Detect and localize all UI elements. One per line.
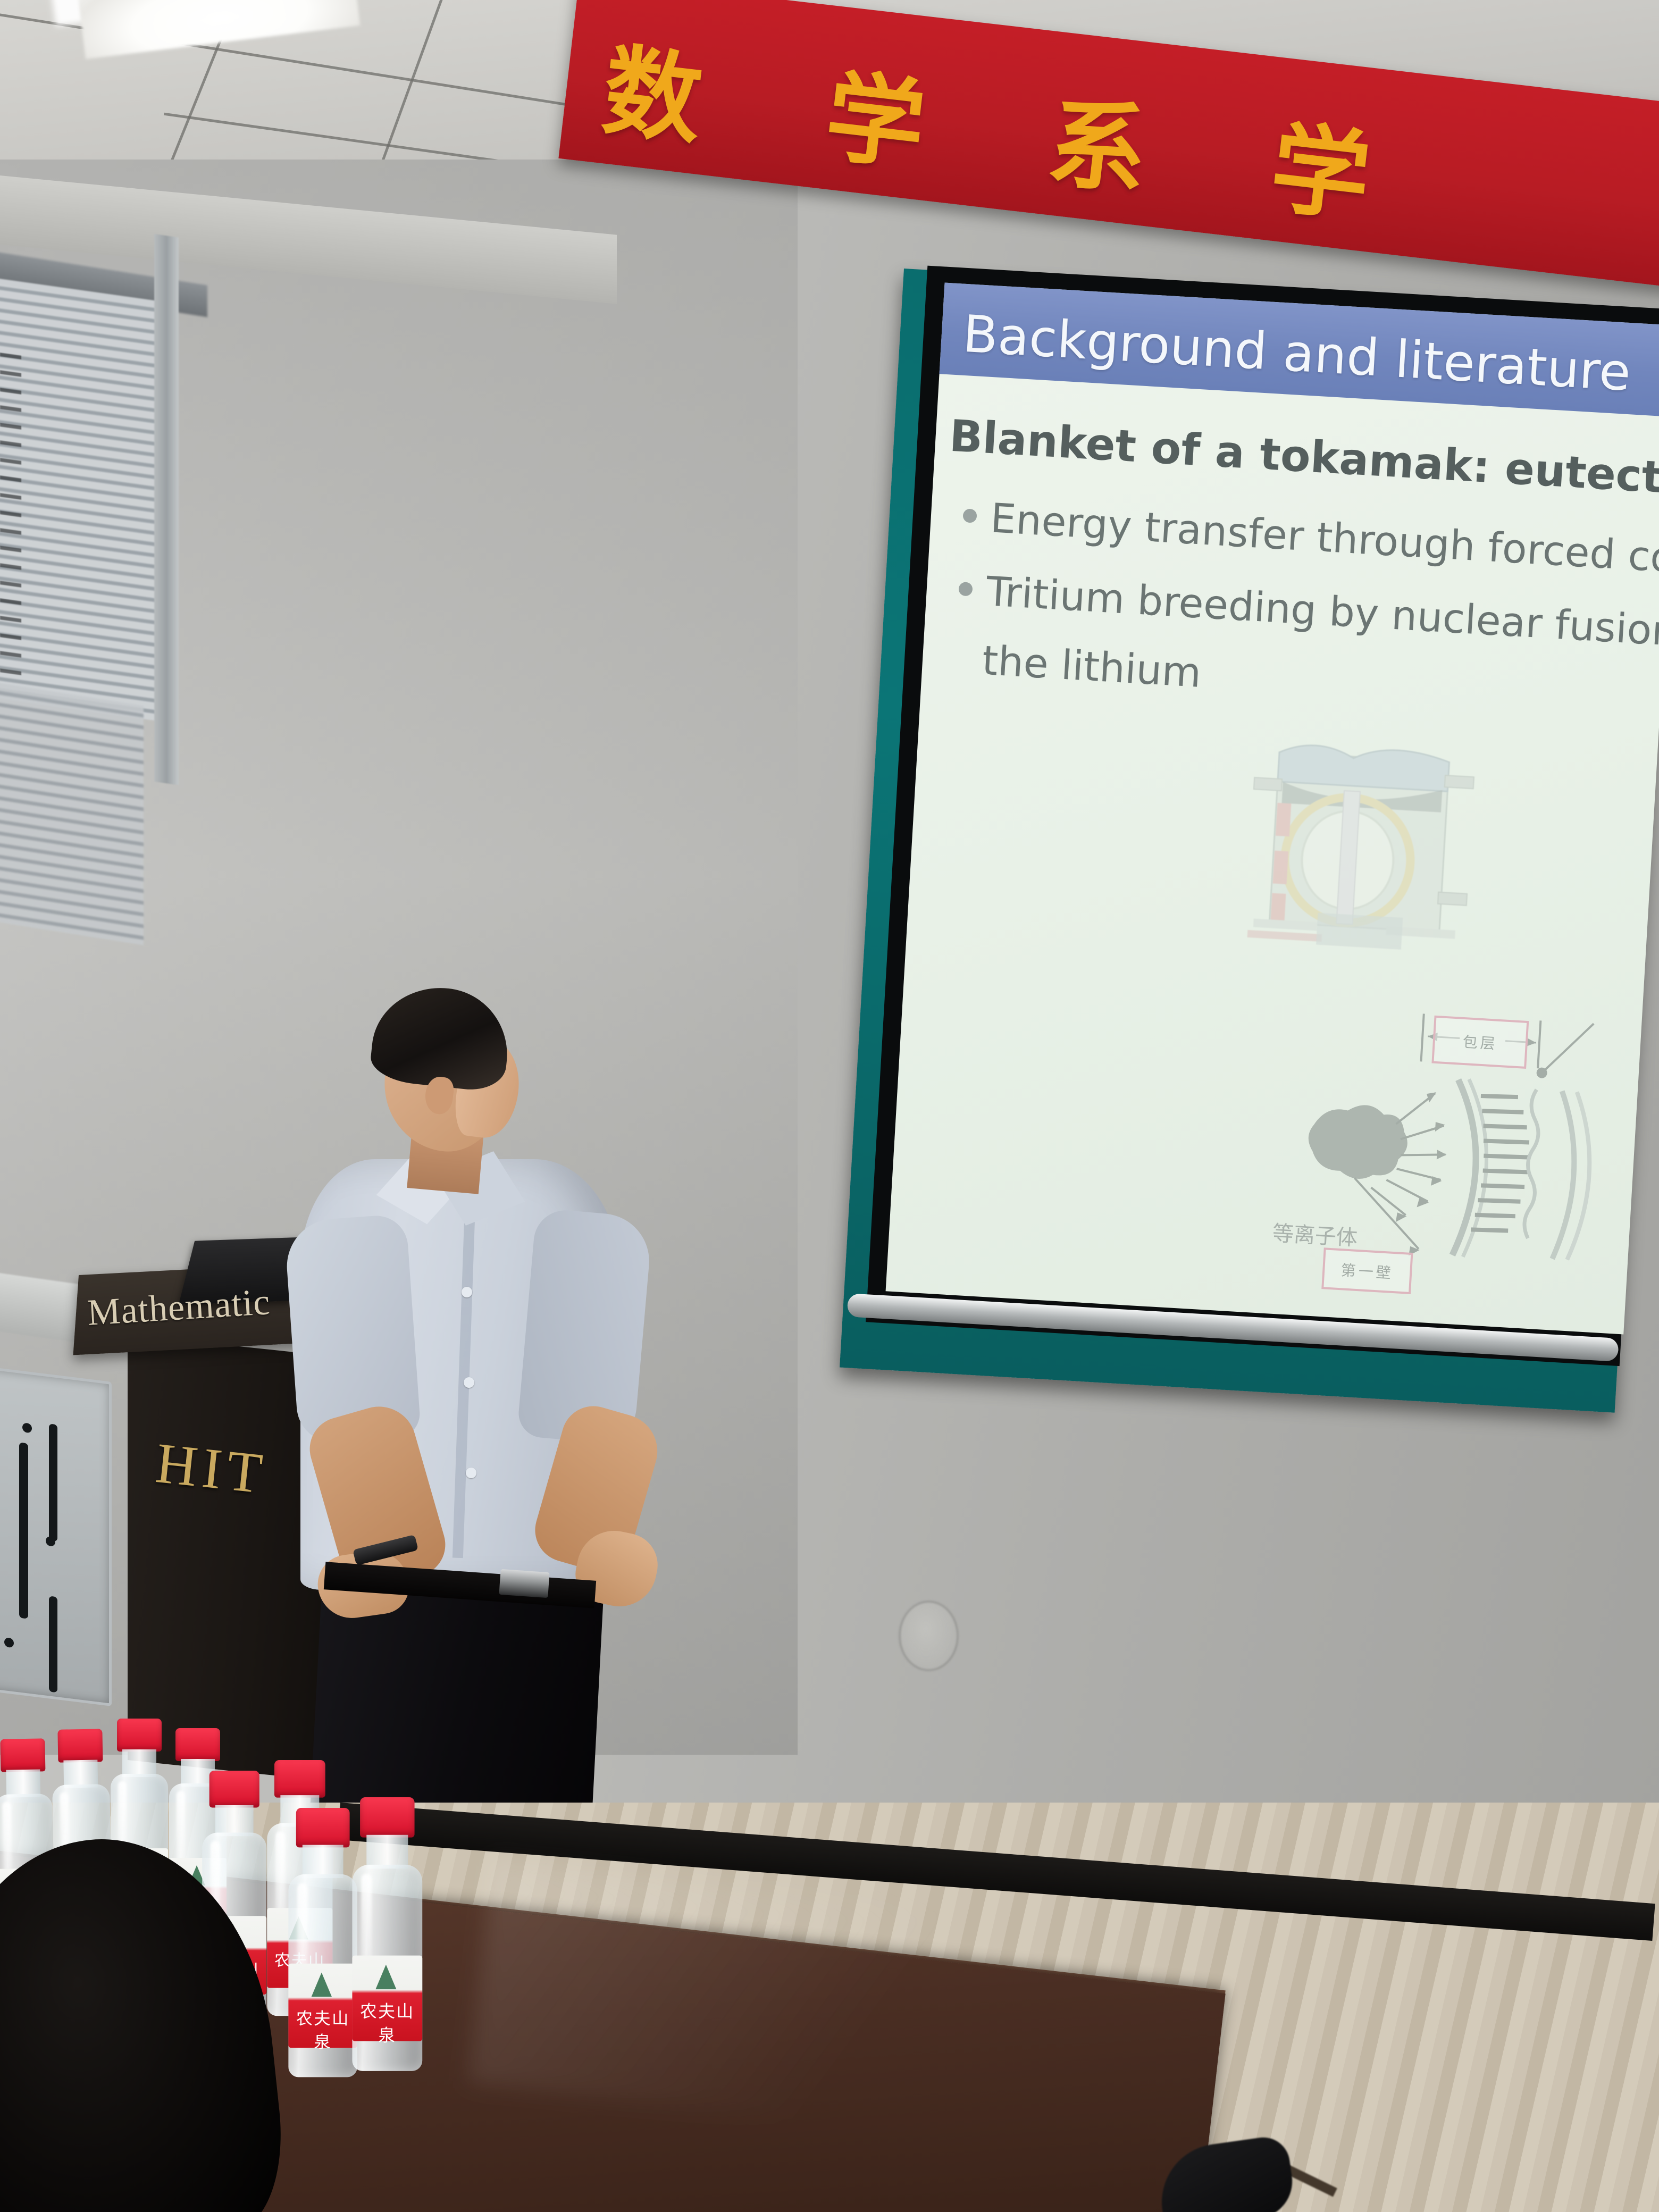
window-frame: [154, 234, 179, 785]
water-bottle[interactable]: 农夫山泉: [351, 1797, 424, 2069]
bottle-cap: [117, 1719, 162, 1752]
schematic-label-text: 包层: [1462, 1030, 1498, 1054]
wall-vent: [0, 1367, 112, 1706]
lecture-photo-scene: 数 学 系 学 Background and literature Blanke…: [0, 0, 1659, 2212]
vent-slot: [49, 1596, 57, 1692]
tokamak-cutaway-figure: [1236, 721, 1483, 958]
pine-tree-icon: [312, 1973, 332, 1997]
bottle-cap: [57, 1729, 103, 1762]
bullet-dot-icon: [962, 508, 977, 523]
pine-tree-icon: [375, 1965, 396, 1989]
slide-bullet: Energy transfer through forced conv: [961, 492, 1659, 584]
bottle-label: 农夫山泉: [352, 1956, 422, 2041]
bottle-neck: [122, 1749, 156, 1777]
presenter: [250, 989, 675, 1893]
bullet-dot-icon: [958, 582, 973, 596]
blanket-schematic-figure: 包层 等离子体 第一壁: [1259, 994, 1642, 1297]
bottle-neck: [63, 1759, 98, 1788]
window-blinds-lower[interactable]: [0, 681, 144, 945]
blind-cord-holes: [0, 339, 21, 682]
slide-bullet-continuation: the lithium: [981, 636, 1203, 697]
schematic-label-text: 第一壁: [1340, 1259, 1394, 1283]
schematic-label-box-blanket: 包层: [1431, 1016, 1529, 1069]
bottle-brand-text: 农夫山泉: [294, 2006, 352, 2053]
shirt-button: [466, 1468, 476, 1478]
vent-hole: [22, 1422, 32, 1433]
shirt-button: [464, 1377, 474, 1388]
slide-bullet-text: Energy transfer through forced conv: [989, 494, 1659, 584]
schematic-label-plasma: 等离子体: [1272, 1216, 1359, 1252]
bottle-neck: [6, 1769, 40, 1797]
bottle-neck: [303, 1845, 343, 1878]
vent-slot: [19, 1442, 28, 1619]
projection-screen: Background and literature Blanket of a t…: [840, 269, 1659, 1413]
wall-mark: [899, 1601, 959, 1671]
bottle-cap: [0, 1738, 45, 1772]
shirt-button: [462, 1287, 472, 1297]
bottle-cap: [210, 1771, 259, 1807]
bottle-cap: [175, 1728, 220, 1761]
bottle-neck: [366, 1835, 408, 1869]
bottle-neck: [215, 1805, 254, 1836]
presentation-slide: Background and literature Blanket of a t…: [886, 283, 1659, 1335]
schematic-label-box-first-wall: 第一壁: [1321, 1247, 1413, 1294]
belt-buckle: [499, 1569, 549, 1598]
bottle-cap: [274, 1760, 325, 1798]
water-bottle[interactable]: 农夫山泉: [287, 1808, 358, 2076]
bottle-label: 农夫山泉: [288, 1964, 357, 2048]
vent-hole: [4, 1637, 14, 1648]
presenter-left-sleeve: [284, 1213, 422, 1445]
bottle-brand-text: 农夫山泉: [357, 1998, 417, 2046]
window-blinds[interactable]: [0, 276, 175, 724]
bottle-cap: [296, 1808, 350, 1847]
vent-slot: [49, 1423, 57, 1541]
bottle-cap: [360, 1797, 414, 1838]
